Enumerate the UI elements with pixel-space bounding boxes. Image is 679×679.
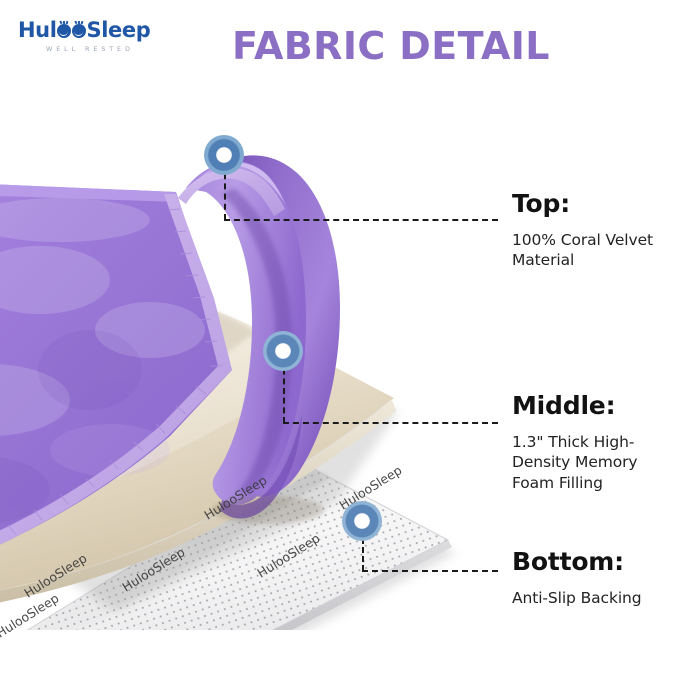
page-title: FABRIC DETAIL bbox=[232, 24, 550, 68]
brand-wordmark-part1: Hul bbox=[18, 20, 57, 41]
callout-bottom-body: Anti-Slip Backing bbox=[512, 588, 672, 609]
callout-top-title: Top: bbox=[512, 190, 672, 218]
leader-line-top-horizontal bbox=[224, 219, 498, 221]
brand-tagline: WELL RESTED bbox=[46, 45, 178, 53]
callout-middle: Middle: 1.3" Thick High-Density Memory F… bbox=[512, 392, 672, 494]
brand-logo: Hul Sleep WELL RESTED bbox=[18, 20, 178, 60]
callout-top: Top: 100% Coral Velvet Material bbox=[512, 190, 672, 271]
callout-middle-body: 1.3" Thick High-Density Memory Foam Fill… bbox=[512, 432, 672, 495]
callout-marker-top[interactable] bbox=[204, 135, 244, 175]
sleepy-eyes-icon bbox=[57, 23, 87, 40]
callout-middle-title: Middle: bbox=[512, 392, 672, 420]
callout-marker-bottom[interactable] bbox=[342, 501, 382, 541]
callout-marker-middle[interactable] bbox=[263, 331, 303, 371]
callout-bottom-title: Bottom: bbox=[512, 548, 672, 576]
callout-top-body: 100% Coral Velvet Material bbox=[512, 230, 672, 272]
infographic-canvas: Hul Sleep WELL RESTED FABRIC DETAIL bbox=[0, 0, 679, 679]
callout-bottom: Bottom: Anti-Slip Backing bbox=[512, 548, 672, 608]
leader-line-middle-horizontal bbox=[283, 422, 498, 424]
brand-wordmark: Hul Sleep bbox=[18, 20, 178, 41]
leader-line-bottom-horizontal bbox=[362, 570, 498, 572]
brand-wordmark-part2: Sleep bbox=[87, 20, 151, 41]
